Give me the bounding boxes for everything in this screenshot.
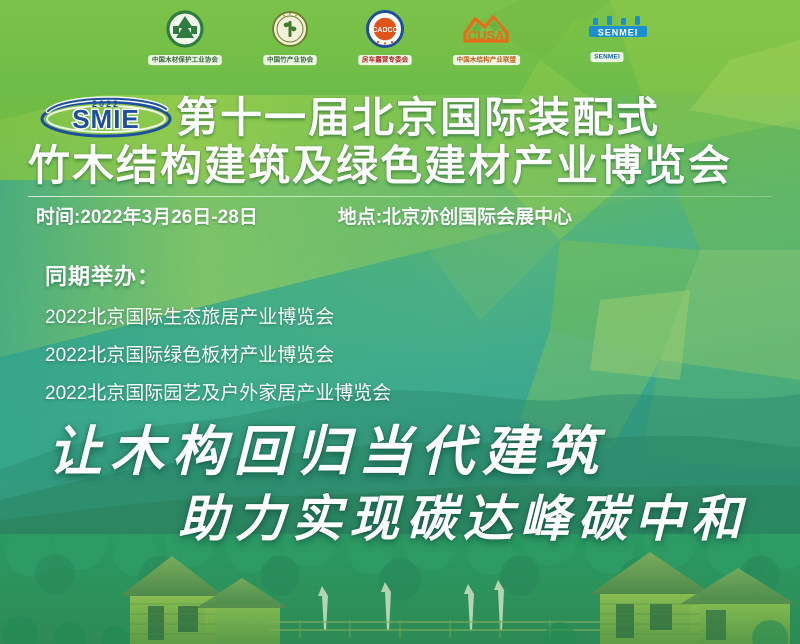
logo-caption: 中国木材保护工业协会: [148, 55, 222, 65]
svg-text:CUSA: CUSA: [468, 28, 505, 43]
concurrent-item: 2022北京国际生态旅居产业博览会: [45, 306, 605, 330]
slogan-line2: 助力实现碳达峰碳中和: [178, 488, 748, 550]
event-venue: 地点:北京亦创国际会展中心: [338, 205, 572, 231]
divider: [28, 196, 772, 197]
association-logos-row: 中国木材保护工业协会 中国竹产业协会: [0, 4, 800, 70]
page-title-line2: 竹木结构建筑及绿色建材产业博览会: [28, 142, 732, 190]
tree-shield-icon: [165, 9, 205, 54]
logo-china-wood-protection: 中国木材保护工业协会: [145, 9, 225, 66]
logo-caption: SENMEI: [590, 52, 623, 62]
logo-caption: 房车露营专委会: [358, 55, 412, 65]
exhibition-poster: 中国木材保护工业协会 中国竹产业协会: [0, 0, 800, 644]
bamboo-seal-icon: [270, 9, 310, 54]
smie-wordmark: SMIE: [72, 104, 140, 134]
concurrent-item: 2022北京国际园艺及户外家居产业博览会: [45, 382, 605, 406]
smie-brand-logo: 2022 SMIE: [38, 93, 174, 139]
logo-bamboo-association: 中国竹产业协会: [261, 9, 319, 66]
concurrent-heading: 同期举办：: [45, 262, 605, 292]
event-date: 时间:2022年3月26日-28日: [36, 205, 258, 231]
page-title-line1: 第十一届北京国际装配式: [176, 95, 660, 141]
event-meta: 时间:2022年3月26日-28日 地点:北京亦创国际会展中心: [36, 205, 736, 231]
svg-text:CADCC: CADCC: [372, 27, 397, 34]
logo-cadcc-rv-committee: CADCC 房车露营专委会: [356, 9, 414, 66]
slogan-line1: 让木构回归当代建筑: [48, 418, 606, 484]
concurrent-events: 同期举办： 2022北京国际生态旅居产业博览会 2022北京国际绿色板材产业博览…: [45, 262, 605, 406]
wooden-cabins-photo: [0, 534, 800, 644]
cadcc-roundel-icon: CADCC: [365, 9, 405, 54]
logo-caption: 中国木结构产业联盟: [453, 55, 520, 65]
leaf-senmei-icon: SENMEI: [559, 12, 655, 51]
svg-text:SENMEI: SENMEI: [598, 27, 639, 37]
house-cusa-icon: CUSA: [459, 9, 513, 54]
logo-caption: 中国竹产业协会: [264, 55, 318, 65]
logo-senmei: SENMEI SENMEI: [559, 12, 655, 63]
logo-cusa-wood-housing: CUSA 中国木结构产业联盟: [450, 9, 523, 66]
concurrent-item: 2022北京国际绿色板材产业博览会: [45, 344, 605, 368]
